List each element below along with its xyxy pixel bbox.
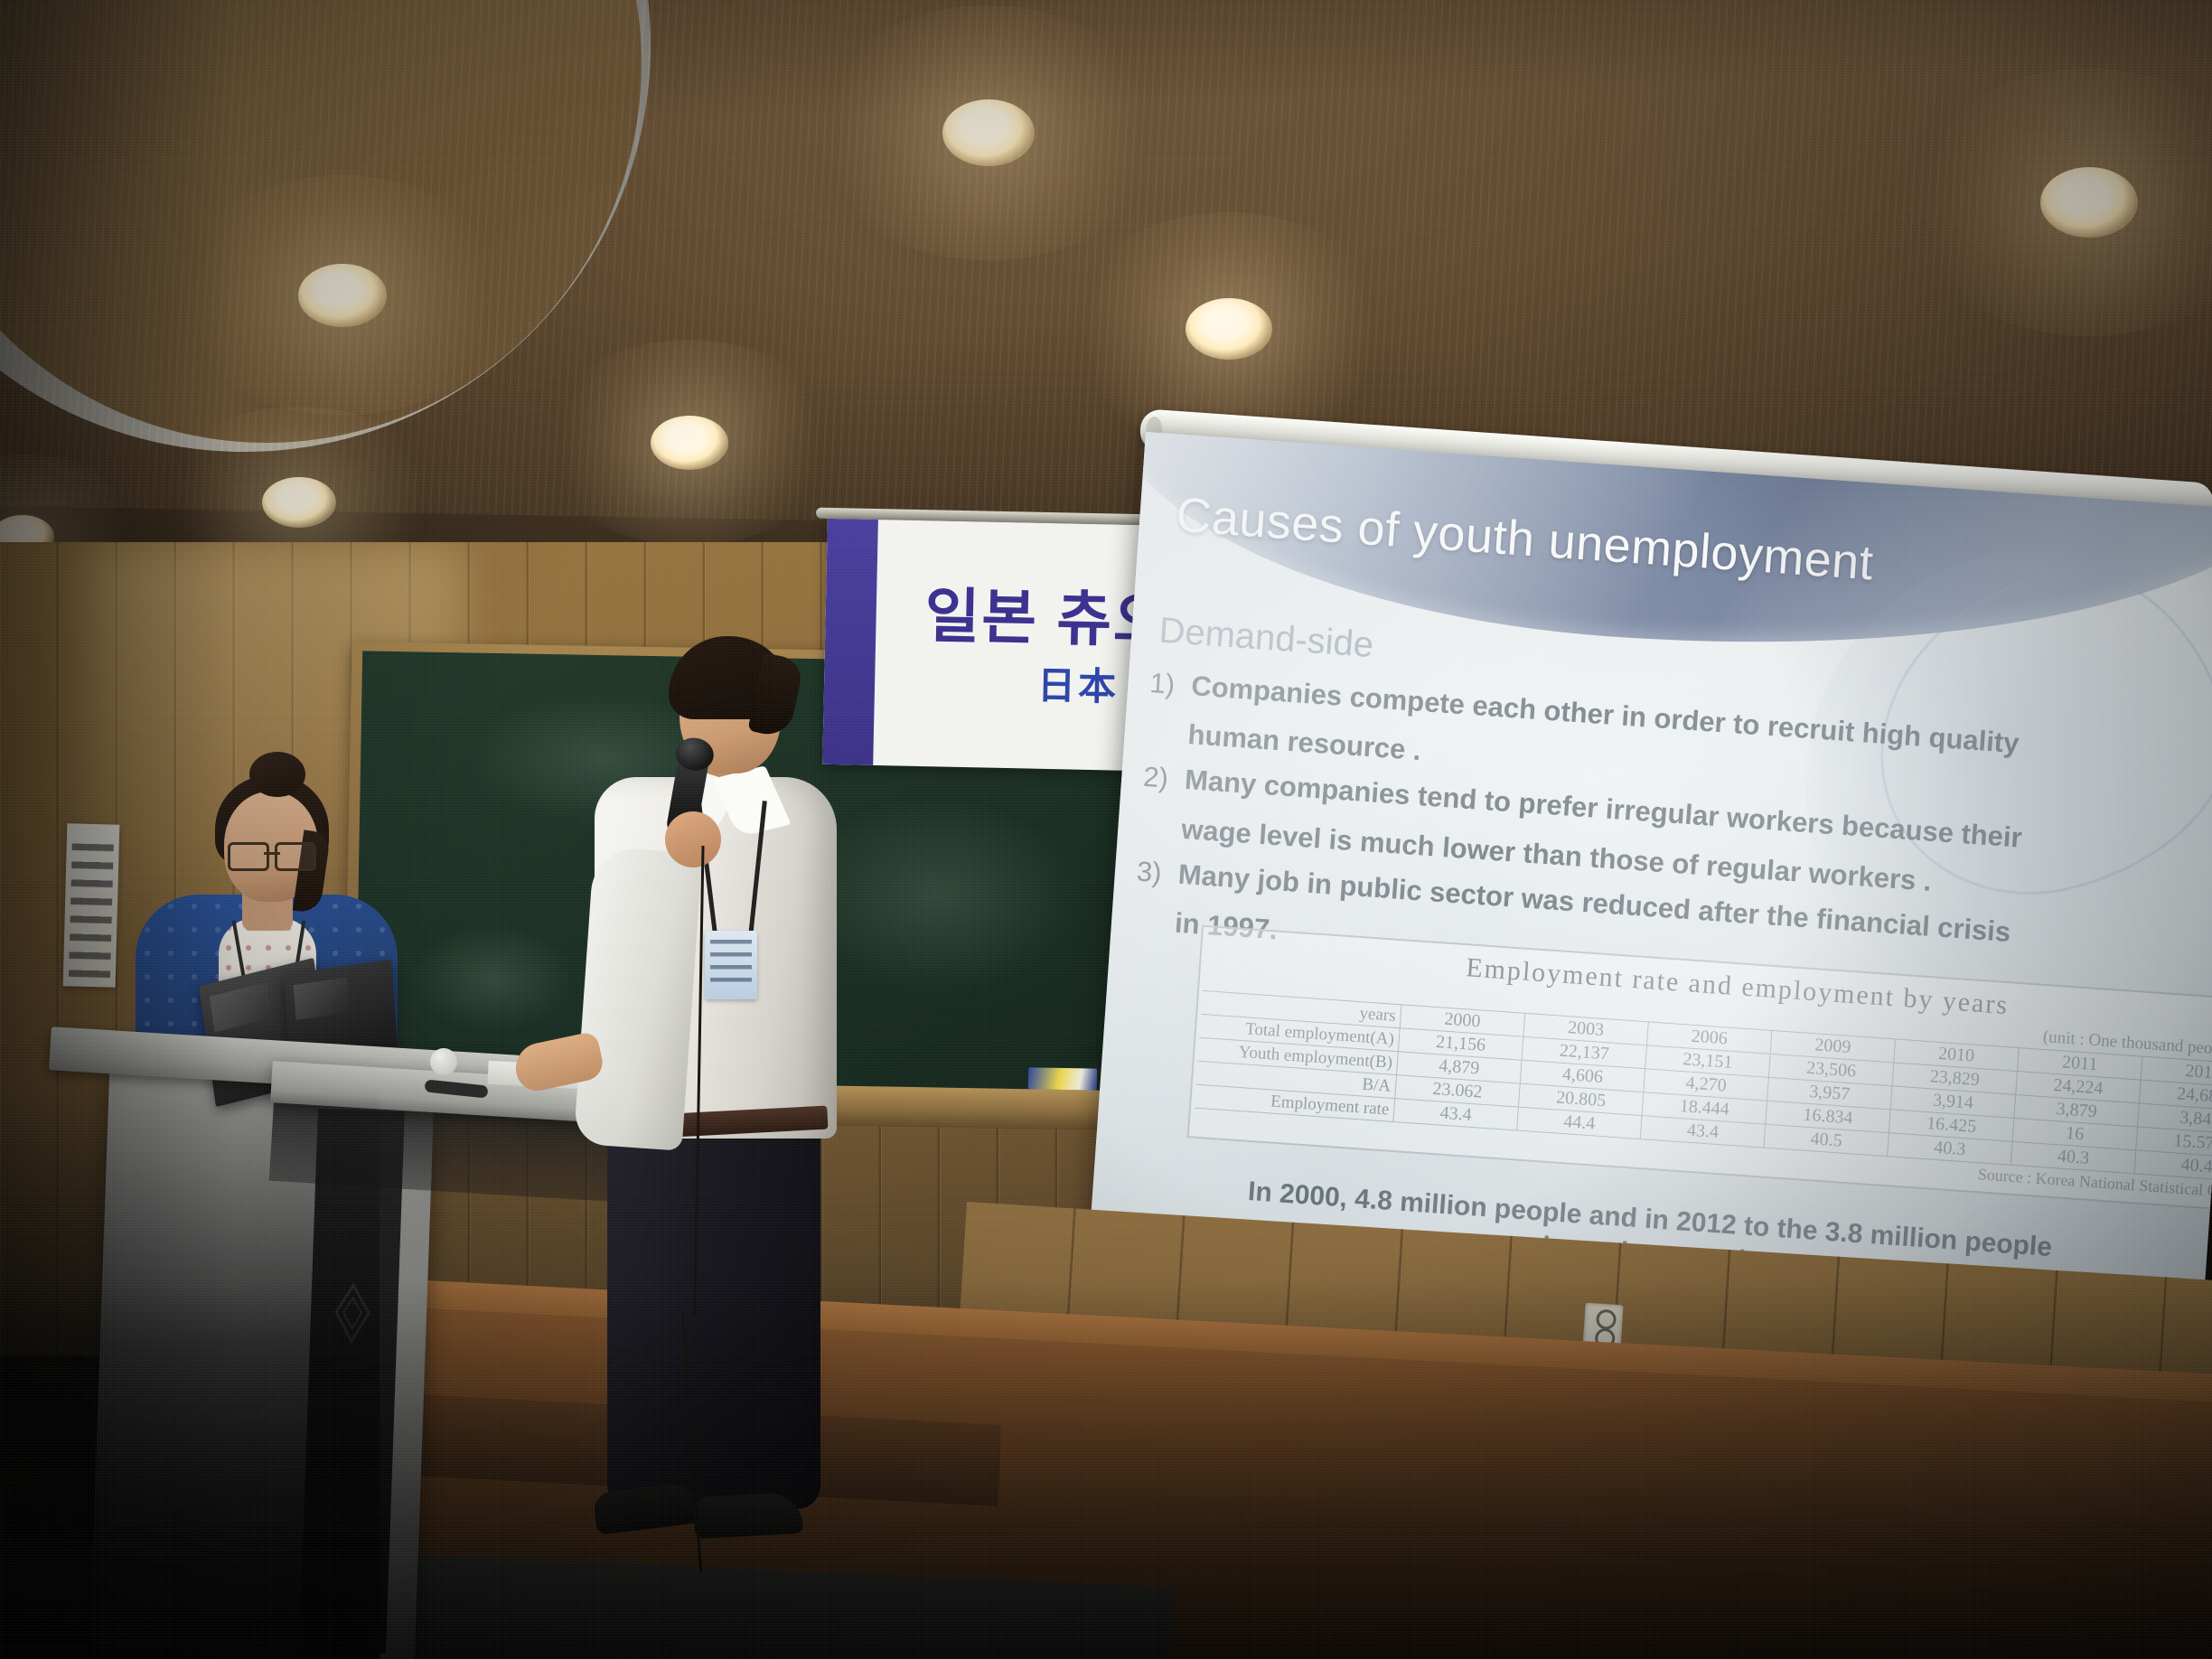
presentation-slide: Causes of youth unemployment Demand-side… <box>1087 432 2212 1348</box>
shoe-right <box>693 1492 803 1539</box>
bullet-number: 2) <box>1142 755 1186 802</box>
downlight-5 <box>651 416 728 470</box>
name-badge-text-lines <box>710 940 752 990</box>
flip-chart-text-lines <box>69 843 114 978</box>
downlight-3 <box>1186 298 1272 360</box>
eyeglasses <box>228 842 316 866</box>
downlight-6 <box>262 477 336 528</box>
trousers <box>607 1120 820 1509</box>
eyeglass-bridge <box>264 852 280 855</box>
desk-cup <box>430 1048 457 1075</box>
hair-bun <box>249 752 305 797</box>
name-badge <box>705 931 757 999</box>
stage-shadow-overlay <box>0 1084 380 1659</box>
downlight-2 <box>2040 167 2138 238</box>
hand-holding-microphone <box>665 811 721 867</box>
laptop-screen-glare <box>293 978 349 1020</box>
laptop-screen-glare <box>210 981 272 1032</box>
arm-raised <box>574 846 703 1151</box>
bullet-number: 3) <box>1135 848 1179 896</box>
flip-chart-sheet <box>63 823 120 987</box>
downlight-4 <box>298 264 387 327</box>
eyeglass-lens-right <box>275 842 316 871</box>
projection-screen: Causes of youth unemployment Demand-side… <box>1087 432 2212 1348</box>
eyeglass-lens-left <box>228 842 269 871</box>
downlight-1 <box>942 99 1035 166</box>
bullet-number: 1) <box>1148 661 1193 708</box>
slide-subtitle: Demand-side <box>1158 611 1374 666</box>
presenter-speaking <box>578 642 876 1545</box>
lecture-hall-photo: 일본 츄오 日本 中 Causes of youth unemployment … <box>0 0 2212 1659</box>
ledge-item <box>1028 1067 1097 1090</box>
chalk-smudge <box>410 923 575 1034</box>
